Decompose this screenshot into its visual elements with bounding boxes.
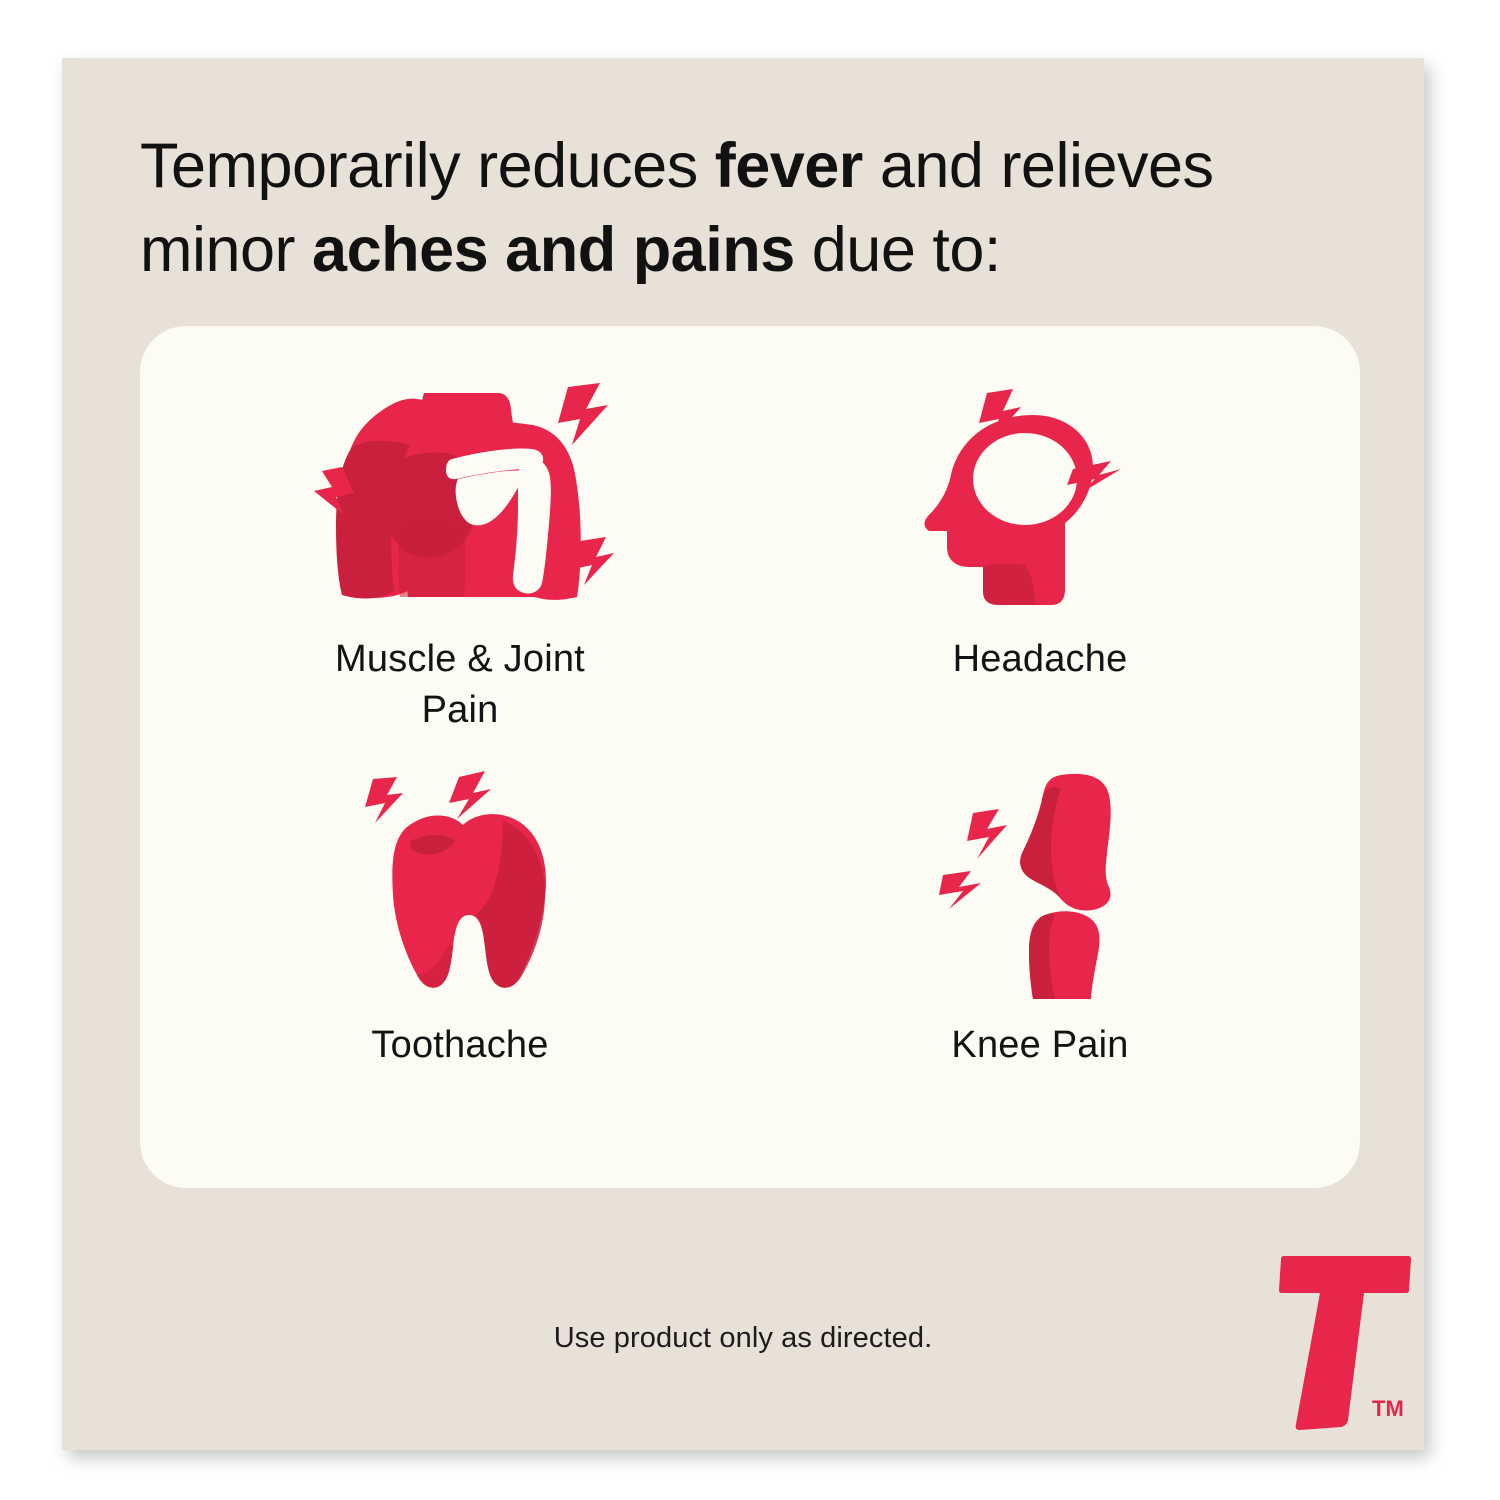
benefit-label: Headache xyxy=(953,634,1128,685)
benefit-item-toothache: Toothache xyxy=(170,764,750,1160)
benefits-card: Muscle & Joint Pain xyxy=(140,326,1360,1188)
head-profile-pain-icon xyxy=(915,368,1165,618)
tooth-pain-icon xyxy=(335,764,585,1004)
headline-line2-pre: minor xyxy=(140,215,312,285)
benefit-label: Muscle & Joint Pain xyxy=(335,634,585,736)
headline-line2-post: due to: xyxy=(795,215,1001,285)
footer-disclaimer: Use product only as directed. xyxy=(62,1322,1424,1355)
knee-joint-pain-icon xyxy=(915,764,1165,1004)
benefit-item-muscle-joint-pain: Muscle & Joint Pain xyxy=(170,368,750,764)
headline-line2-bold: aches and pains xyxy=(312,215,795,285)
torso-shoulder-pain-icon xyxy=(300,368,620,618)
benefits-grid: Muscle & Joint Pain xyxy=(140,326,1360,1188)
page-title: Temporarily reduces fever and relieves m… xyxy=(140,124,1365,292)
benefit-item-knee-pain: Knee Pain xyxy=(750,764,1330,1160)
benefit-label: Knee Pain xyxy=(951,1020,1128,1071)
trademark-text: TM xyxy=(1372,1396,1404,1421)
benefit-label: Toothache xyxy=(371,1020,548,1071)
poster-panel: Temporarily reduces fever and relieves m… xyxy=(62,58,1424,1450)
headline-line1-post: and relieves xyxy=(863,131,1214,201)
benefit-item-headache: Headache xyxy=(750,368,1330,764)
footer-note-text: Use product only as directed. xyxy=(554,1322,932,1354)
poster-canvas: Temporarily reduces fever and relieves m… xyxy=(0,0,1500,1500)
headline-line1-bold: fever xyxy=(715,131,863,201)
headline-line1-pre: Temporarily reduces xyxy=(140,131,715,201)
